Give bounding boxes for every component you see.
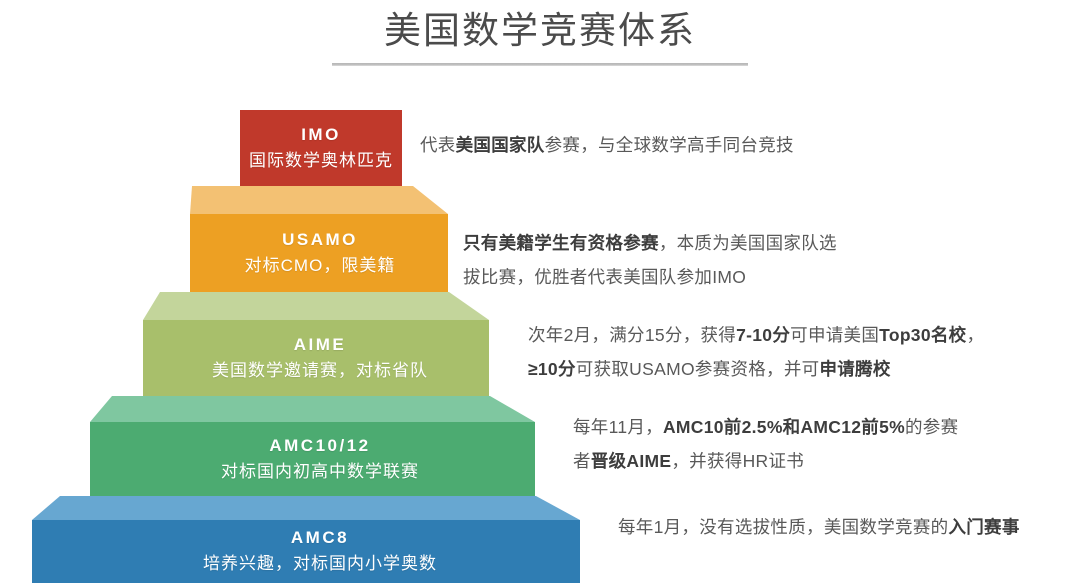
pyramid-level-aime-top xyxy=(0,292,640,320)
description-imo: 代表美国国家队参赛，与全球数学高手同台竞技 xyxy=(420,128,1060,162)
description-line: 次年2月，满分15分，获得7-10分可申请美国Top30名校， xyxy=(528,318,1073,352)
pyramid-level-usamo-top xyxy=(0,186,640,214)
pyramid-level-amc8-desc: 培养兴趣，对标国内小学奥数 xyxy=(203,551,437,577)
description-line: 代表美国国家队参赛，与全球数学高手同台竞技 xyxy=(420,128,1060,162)
pyramid-level-amc1012-top xyxy=(0,396,640,422)
pyramid-level-amc1012-desc: 对标国内初高中数学联赛 xyxy=(221,459,419,485)
description-amc8: 每年1月，没有选拔性质，美国数学竞赛的入门赛事 xyxy=(618,510,1078,544)
description-amc1012: 每年11月，AMC10前2.5%和AMC12前5%的参赛者晋级AIME，并获得H… xyxy=(573,410,1073,478)
description-line: 只有美籍学生有资格参赛，本质为美国国家队选 xyxy=(463,226,1063,260)
pyramid-level-imo-code: IMO xyxy=(301,123,341,147)
pyramid-level-aime-desc: 美国数学邀请赛，对标省队 xyxy=(212,358,428,384)
pyramid-level-amc1012[interactable]: AMC10/12 对标国内初高中数学联赛 xyxy=(0,396,640,496)
description-line: 者晋级AIME，并获得HR证书 xyxy=(573,444,1073,478)
description-usamo: 只有美籍学生有资格参赛，本质为美国国家队选拔比赛，优胜者代表美国队参加IMO xyxy=(463,226,1063,294)
description-line: 每年1月，没有选拔性质，美国数学竞赛的入门赛事 xyxy=(618,510,1078,544)
description-line: ≥10分可获取USAMO参赛资格，并可申请腾校 xyxy=(528,352,1073,386)
description-line: 拔比赛，优胜者代表美国队参加IMO xyxy=(463,260,1063,294)
pyramid-level-amc1012-code: AMC10/12 xyxy=(269,434,370,458)
pyramid-level-aime-code: AIME xyxy=(294,333,347,357)
pyramid-level-amc8-top xyxy=(0,496,640,520)
pyramid-level-amc8[interactable]: AMC8 培养兴趣，对标国内小学奥数 xyxy=(0,496,640,583)
pyramid-level-amc8-code: AMC8 xyxy=(291,526,349,550)
pyramid-level-amc8-face: AMC8 培养兴趣，对标国内小学奥数 xyxy=(0,520,640,583)
pyramid-level-usamo-code: USAMO xyxy=(282,228,358,252)
pyramid-level-usamo-desc: 对标CMO，限美籍 xyxy=(245,253,396,279)
pyramid-level-imo-desc: 国际数学奥林匹克 xyxy=(249,148,393,174)
pyramid-level-amc1012-face: AMC10/12 对标国内初高中数学联赛 xyxy=(0,422,640,496)
description-line: 每年11月，AMC10前2.5%和AMC12前5%的参赛 xyxy=(573,410,1073,444)
pyramid-level-imo-face: IMO 国际数学奥林匹克 xyxy=(240,110,402,186)
description-aime: 次年2月，满分15分，获得7-10分可申请美国Top30名校，≥10分可获取US… xyxy=(528,318,1073,386)
